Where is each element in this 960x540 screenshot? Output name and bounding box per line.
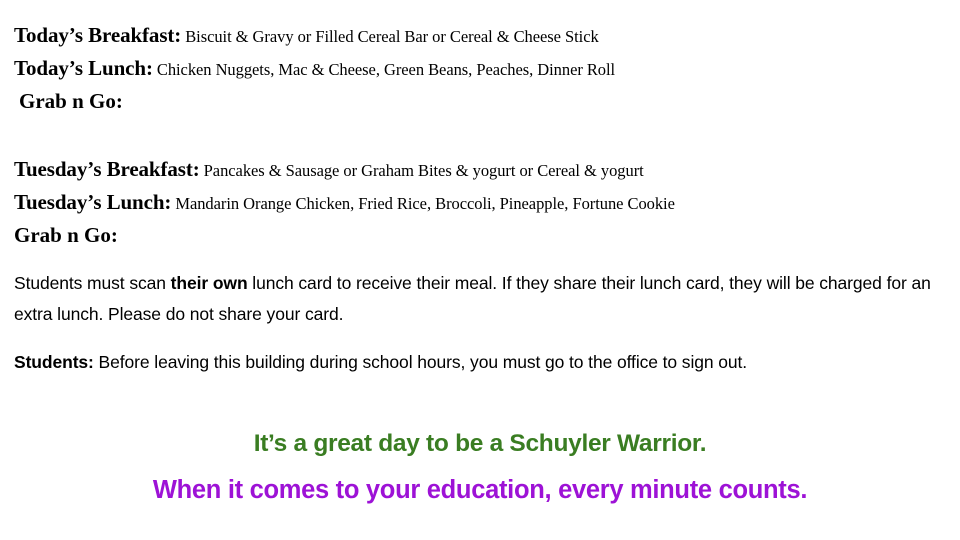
announcement-slide: Today’s Breakfast: Biscuit & Gravy or Fi…: [0, 0, 960, 540]
menu-section-divider: [14, 116, 949, 154]
today-breakfast-label: Today’s Breakfast:: [14, 23, 181, 47]
mottos-section: It’s a great day to be a Schuyler Warrio…: [0, 425, 960, 509]
tuesday-breakfast-label: Tuesday’s Breakfast:: [14, 157, 200, 181]
tuesday-lunch-label: Tuesday’s Lunch:: [14, 190, 171, 214]
tuesday-lunch-line: Tuesday’s Lunch: Mandarin Orange Chicken…: [14, 187, 949, 220]
today-lunch-items: Chicken Nuggets, Mac & Cheese, Green Bea…: [157, 60, 615, 79]
menu-section: Today’s Breakfast: Biscuit & Gravy or Fi…: [14, 20, 949, 250]
today-breakfast-line: Today’s Breakfast: Biscuit & Gravy or Fi…: [14, 20, 949, 53]
sign-out-notice: Students: Before leaving this building d…: [14, 347, 939, 378]
lunch-card-notice-part1: Students must scan: [14, 273, 171, 293]
tuesday-lunch-items: Mandarin Orange Chicken, Fried Rice, Bro…: [175, 194, 675, 213]
lunch-card-notice-emphasis: their own: [171, 273, 248, 293]
lunch-card-notice: Students must scan their own lunch card …: [14, 268, 939, 330]
notices-section: Students must scan their own lunch card …: [14, 268, 939, 378]
today-lunch-label: Today’s Lunch:: [14, 56, 153, 80]
motto-purple: When it comes to your education, every m…: [0, 472, 960, 509]
today-lunch-line: Today’s Lunch: Chicken Nuggets, Mac & Ch…: [14, 53, 949, 86]
sign-out-notice-text: Before leaving this building during scho…: [94, 352, 747, 372]
today-breakfast-items: Biscuit & Gravy or Filled Cereal Bar or …: [185, 27, 598, 46]
motto-green: It’s a great day to be a Schuyler Warrio…: [0, 425, 960, 462]
tuesday-grab-n-go-label: Grab n Go:: [14, 220, 949, 250]
tuesday-breakfast-line: Tuesday’s Breakfast: Pancakes & Sausage …: [14, 154, 949, 187]
tuesday-breakfast-items: Pancakes & Sausage or Graham Bites & yog…: [204, 161, 644, 180]
today-grab-n-go-label: Grab n Go:: [14, 86, 949, 116]
sign-out-notice-label: Students:: [14, 352, 94, 372]
